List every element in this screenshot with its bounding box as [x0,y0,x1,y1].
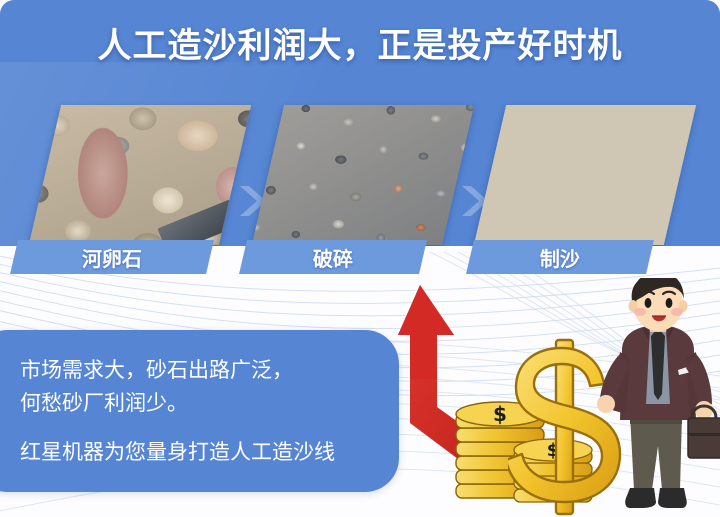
coin-dollar-glyph: $ [493,402,507,426]
smiling-businessman-with-briefcase [592,278,720,517]
page-title: 人工造沙利润大，正是投产好时机 [0,18,720,67]
message-line-3: 红星机器为您量身打造人工造沙线 [20,436,385,469]
message-line-1: 市场需求大，砂石出路广泛， [20,354,385,387]
message-card: 市场需求大，砂石出路广泛， 何愁砂厂利润少。 红星机器为您量身打造人工造沙线 [0,330,399,492]
left-hand [597,395,615,413]
process-step-label-2: 破碎 [239,240,427,274]
crushed-gravel-photo [252,105,474,245]
trousers [630,414,682,490]
river-pebbles-photo [29,105,251,245]
process-step-label-2-text: 破碎 [313,243,353,272]
process-step-label-3-text: 制沙 [540,243,580,272]
promo-banner: 人工造沙利润大，正是投产好时机 [0,0,720,517]
pebble-stack-icon [29,105,251,245]
crushed-gravel-icon [252,105,474,245]
right-eye [666,298,673,308]
message-line-2: 何愁砂厂利润少。 [20,387,385,420]
left-eye [645,298,652,308]
manufactured-sand-photo [474,105,696,245]
head [629,278,688,331]
process-step-label-3: 制沙 [466,240,654,274]
right-hand [695,401,713,419]
header-panel: 人工造沙利润大，正是投产好时机 [0,0,720,248]
shoes [625,488,687,508]
sand-pile-icon [474,105,696,245]
process-step-label-1: 河卵石 [10,240,214,274]
process-step-label-1-text: 河卵石 [82,243,142,272]
